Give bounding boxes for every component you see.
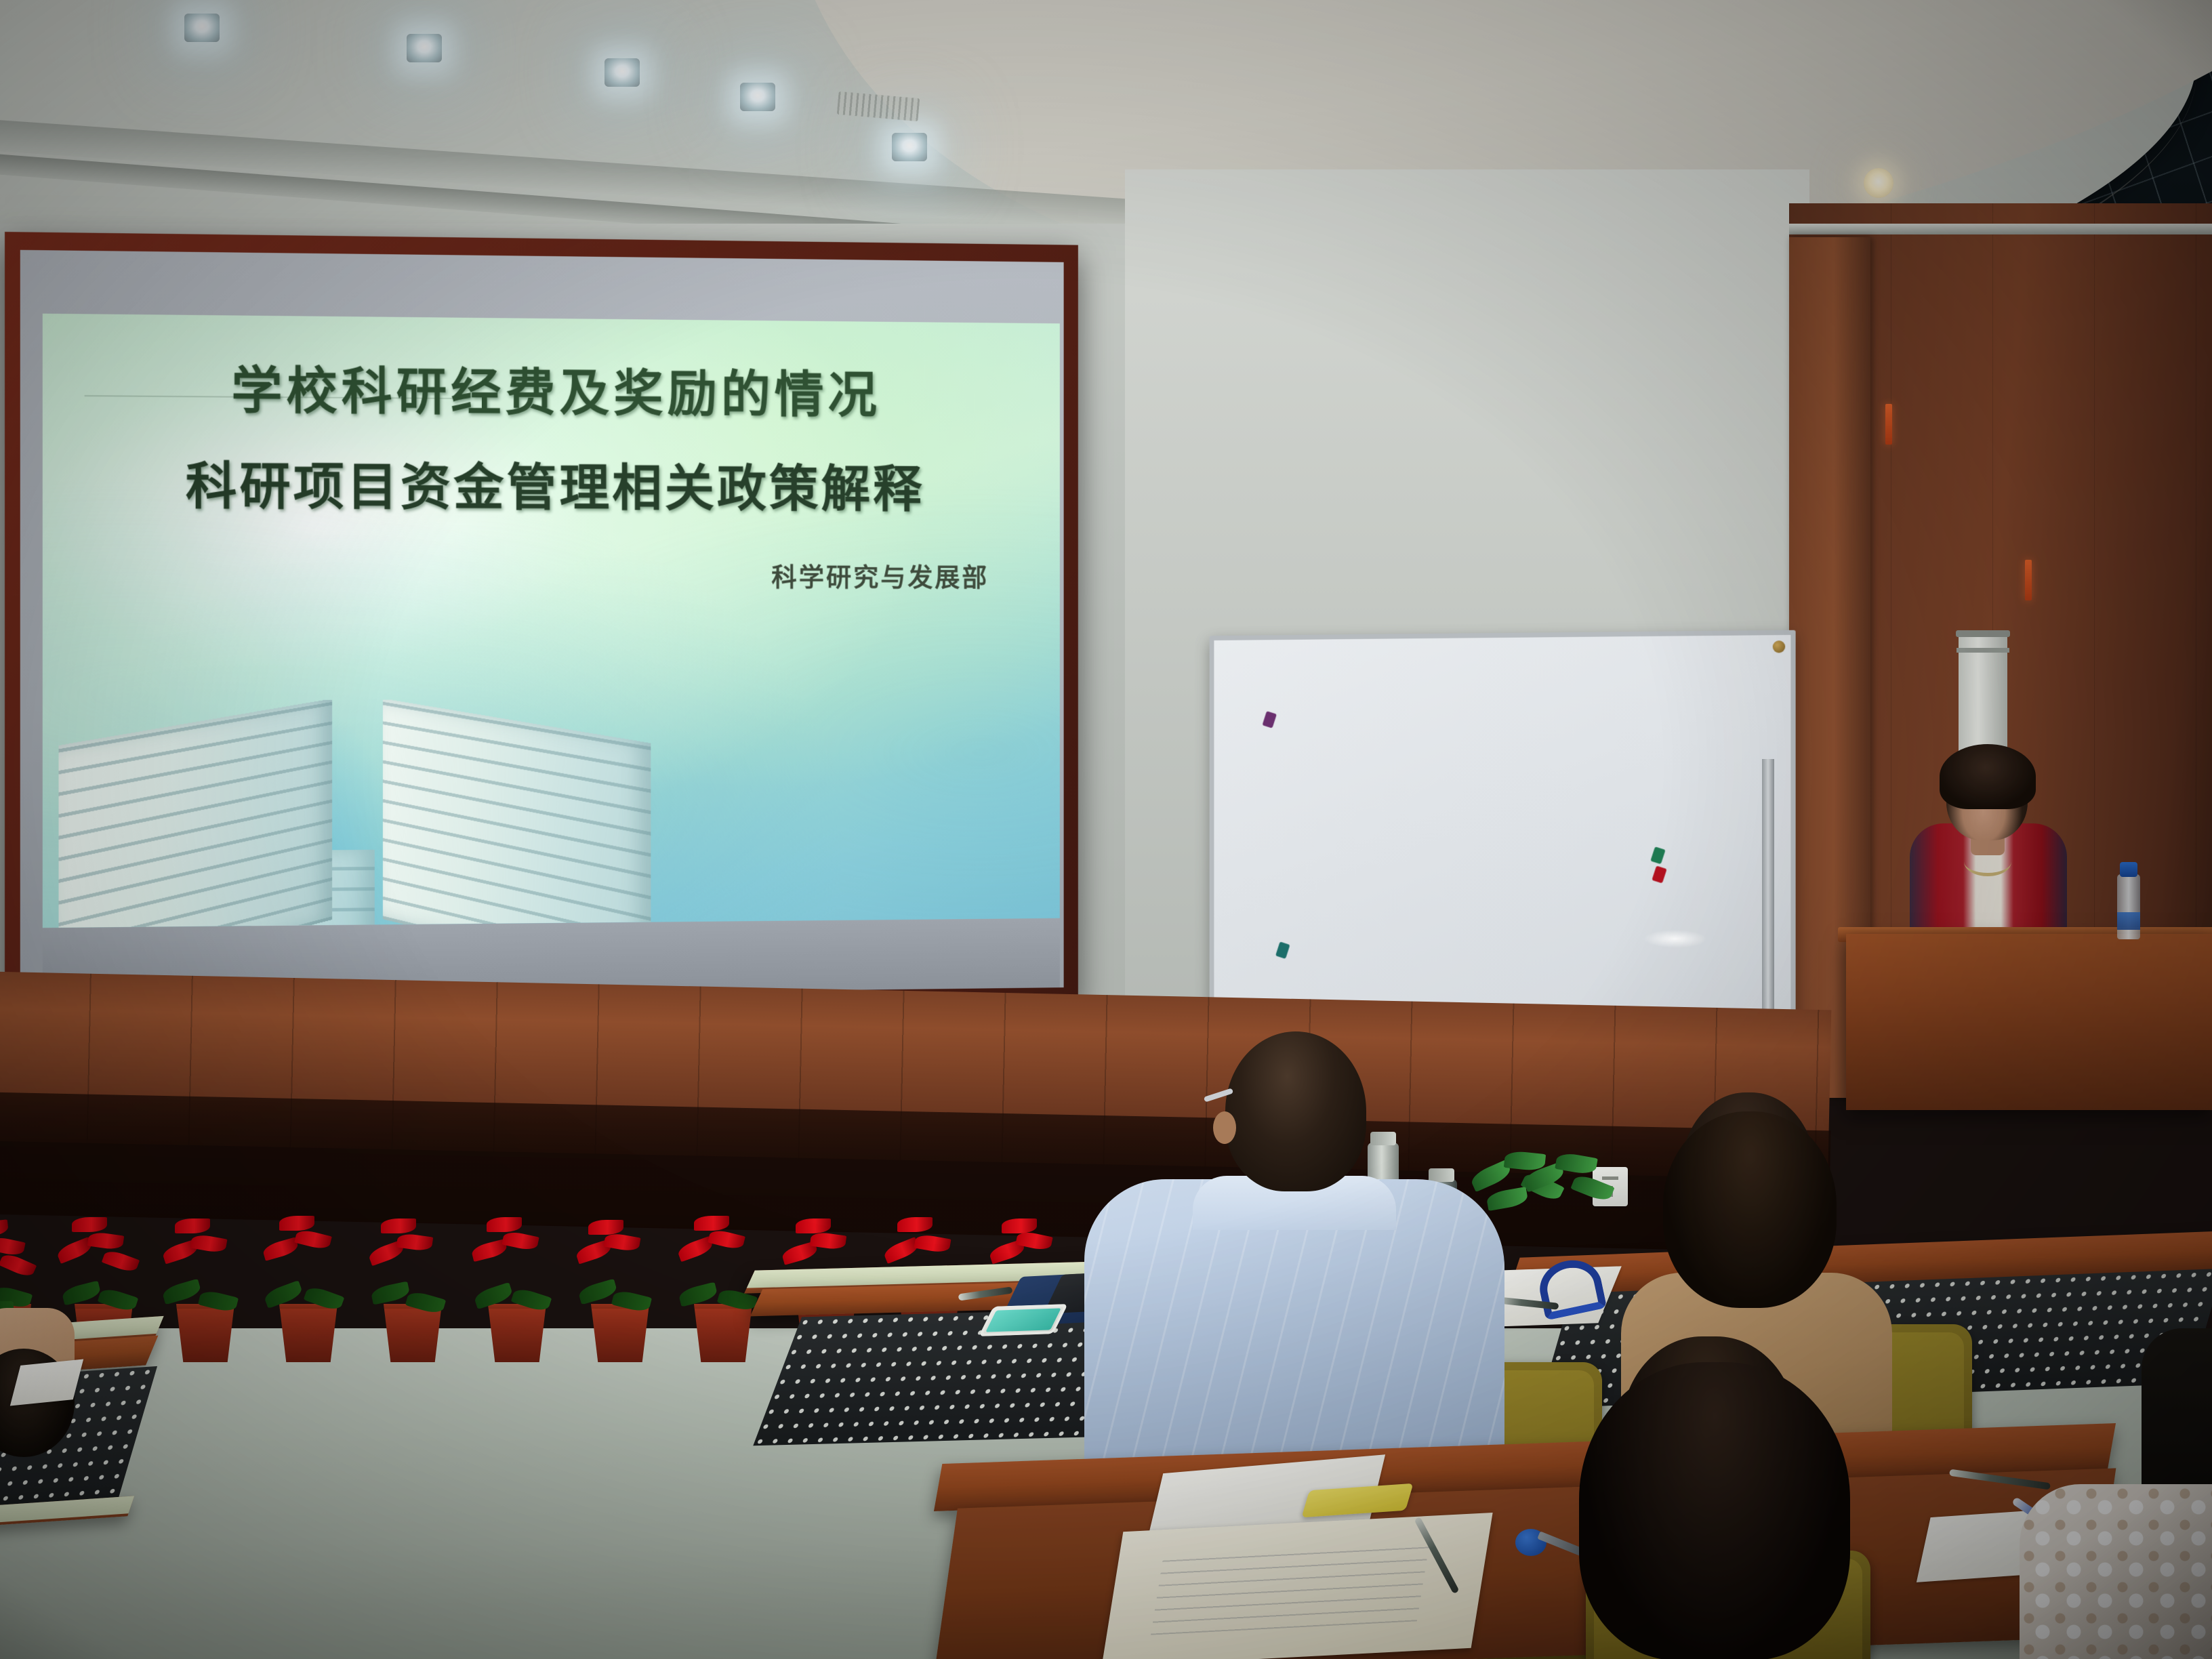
slide-title: 学校科研经费及奖励的情况 [43, 348, 1060, 428]
podium: 从 北京科技大学经济管理学院 School of Economics and M… [1846, 934, 2212, 1110]
lecture-hall-photo: 学校科研经费及奖励的情况 科研项目资金管理相关政策解释 科学研究与发展部 [0, 0, 2212, 1659]
ceiling-light-icon [407, 34, 442, 62]
wall-light-slit [2025, 560, 2032, 600]
magnet-green-icon [1650, 846, 1665, 864]
whiteboard [1210, 630, 1796, 1039]
necklace [1964, 847, 2011, 876]
downlight-icon [1864, 168, 1893, 198]
slide-building-illustration [43, 698, 1060, 928]
magnet-purple-icon [1263, 711, 1277, 729]
loose-paper [10, 1359, 83, 1406]
slide-subtitle: 科研项目资金管理相关政策解释 [43, 445, 1060, 522]
ceiling-light-icon [605, 58, 640, 87]
slide-department: 科学研究与发展部 [771, 556, 989, 594]
whiteboard-stand [1762, 759, 1774, 1030]
audience-woman-darkhair-hair [1579, 1362, 1850, 1659]
whiteboard-screw-icon [1773, 640, 1785, 653]
magnet-teal-icon [1275, 941, 1290, 959]
projection-screen-frame: 学校科研经费及奖励的情况 科研项目资金管理相关政策解释 科学研究与发展部 [5, 232, 1078, 1018]
wall-trim [1789, 224, 2212, 234]
lace-pattern [2020, 1484, 2212, 1659]
magnet-red-icon [1652, 865, 1666, 883]
water-bottle-cap [2120, 862, 2137, 877]
audience-man-head [1225, 1031, 1366, 1191]
ceiling-light-icon [184, 14, 220, 42]
slide-building-left [58, 699, 331, 928]
slide-canvas: 学校科研经费及奖励的情况 科研项目资金管理相关政策解释 科学研究与发展部 [43, 314, 1060, 928]
audience-woman-tan-hair [1663, 1111, 1837, 1308]
whiteboard-glare [1644, 930, 1706, 948]
ceiling-light-icon [892, 133, 927, 161]
slide-building-right [383, 699, 651, 928]
open-notebook [1101, 1513, 1492, 1659]
potted-plant [1518, 1152, 1620, 1227]
projection-screen-surface: 学校科研经费及奖励的情况 科研项目资金管理相关政策解释 科学研究与发展部 [20, 250, 1064, 1000]
presenter-hair [1940, 744, 2036, 809]
phone-screen [985, 1308, 1061, 1332]
ceiling-light-icon [740, 83, 775, 111]
water-bottle-label [2117, 912, 2140, 930]
ear [1213, 1111, 1236, 1144]
wall-light-slit [1885, 404, 1892, 445]
